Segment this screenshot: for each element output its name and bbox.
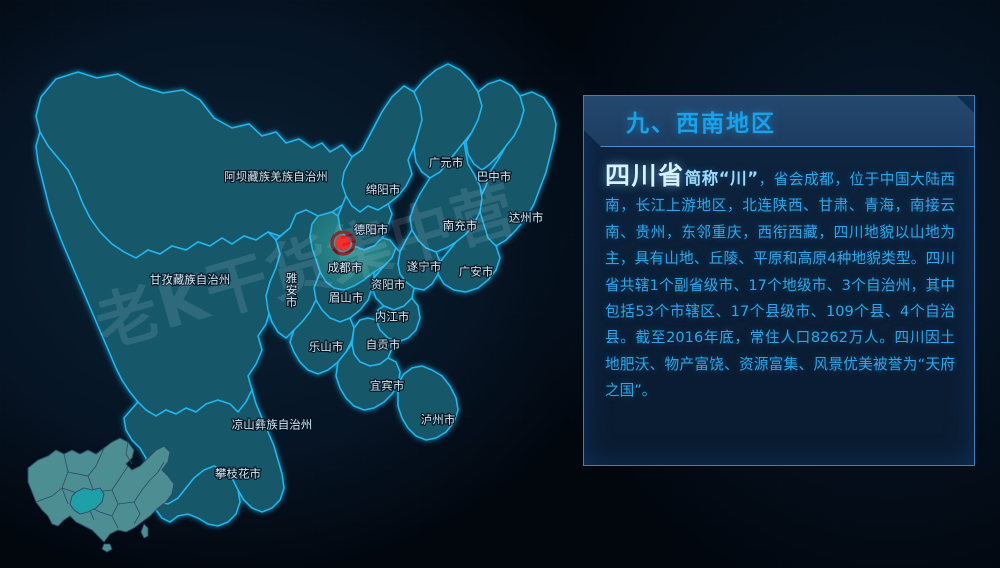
map-label: 凉山彝族自治州 — [232, 418, 313, 432]
map-label: 宜宾市 — [370, 379, 405, 393]
map-label: 广元市 — [429, 156, 464, 170]
province-abbreviation: 简称“川” — [685, 169, 758, 188]
map-label: 自贡市 — [366, 338, 401, 352]
province-description: 四川省简称“川”，省会成都，位于中国大陆西南，长江上游地区，北连陕西、甘肃、青海… — [605, 163, 955, 405]
taiwan-island — [141, 524, 148, 538]
map-label: 攀枝花市 — [215, 467, 261, 481]
map-label: 甘孜藏族自治州 — [150, 273, 231, 287]
china-inset-map[interactable] — [22, 432, 187, 560]
map-label: 南充市 — [443, 219, 478, 233]
map-label: 巴中市 — [477, 170, 512, 184]
map-label: 内江市 — [375, 310, 410, 324]
map-label: 德阳市 — [354, 223, 389, 237]
china-inset-svg[interactable] — [22, 432, 187, 560]
slide-canvas: 阿坝藏族羌族自治州甘孜藏族自治州凉山彝族自治州绵阳市广元市巴中市达州市南充市德阳… — [0, 0, 1000, 568]
panel-title: 九、西南地区 — [626, 104, 776, 138]
map-label: 雅安市 — [285, 271, 299, 308]
info-panel-header: 九、西南地区 — [584, 96, 974, 147]
map-label: 广安市 — [459, 265, 494, 279]
map-label: 达州市 — [509, 211, 544, 225]
map-label: 乐山市 — [309, 340, 344, 354]
map-label: 眉山市 — [329, 291, 364, 305]
map-label: 遂宁市 — [407, 260, 442, 274]
info-panel-body: 四川省简称“川”，省会成都，位于中国大陆西南，长江上游地区，北连陕西、甘肃、青海… — [584, 147, 974, 405]
map-label: 绵阳市 — [366, 183, 401, 197]
hainan-island — [102, 544, 112, 552]
map-label: 泸州市 — [421, 413, 456, 427]
province-name: 四川省 — [605, 161, 685, 190]
info-panel[interactable]: 九、西南地区 四川省简称“川”，省会成都，位于中国大陆西南，长江上游地区，北连陕… — [583, 95, 975, 466]
map-label: 成都市 — [328, 261, 363, 275]
region-luzhou[interactable] — [398, 366, 458, 440]
map-label: 阿坝藏族羌族自治州 — [224, 170, 328, 184]
province-body-text: ，省会成都，位于中国大陆西南，长江上游地区，北连陕西、甘肃、青海，南接云南、贵州… — [605, 171, 955, 399]
map-label: 资阳市 — [371, 278, 406, 292]
china-outline — [28, 438, 174, 552]
